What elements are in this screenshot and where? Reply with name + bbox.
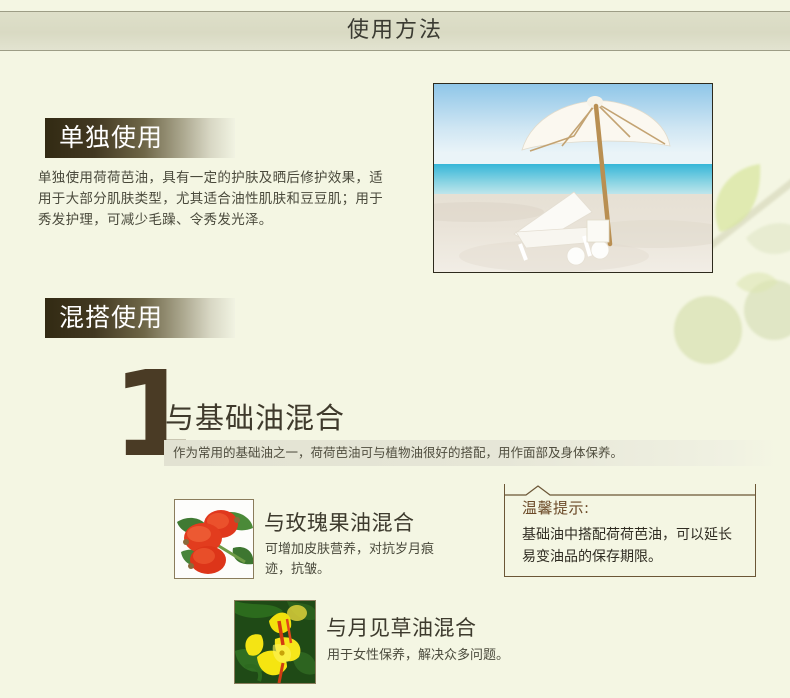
section-heading-mix-label: 混搭使用	[45, 298, 235, 338]
tip-body: 基础油中搭配荷荷芭油，可以延长易变油品的保存期限。	[522, 524, 740, 568]
page-title: 使用方法	[0, 12, 790, 50]
section-heading-alone-label: 单独使用	[45, 118, 235, 158]
mix-subtitle-bar: 作为常用的基础油之一，荷荷芭油可与植物油很好的搭配，用作面部及身体保养。	[164, 440, 778, 466]
rosehip-title: 与玫瑰果油混合	[264, 507, 415, 537]
section-heading-alone: 单独使用	[45, 118, 235, 158]
primrose-description: 用于女性保养，解决众多问题。	[327, 646, 587, 666]
mix-subtitle: 作为常用的基础油之一，荷荷芭油可与植物油很好的搭配，用作面部及身体保养。	[164, 440, 778, 466]
tip-box: 温馨提示: 基础油中搭配荷荷芭油，可以延长易变油品的保存期限。	[504, 484, 756, 577]
beach-photo	[434, 84, 712, 272]
tip-title: 温馨提示:	[522, 497, 590, 518]
alone-description: 单独使用荷荷芭油，具有一定的护肤及晒后修护效果，适用于大部分肌肤类型，尤其适合油…	[38, 168, 386, 231]
primrose-title: 与月见草油混合	[326, 612, 477, 642]
beach-photo-frame	[433, 83, 713, 273]
page-root: 使用方法 单独使用 单独使用荷荷芭油，具有一定的护肤及晒后修护效果，适用于大部分…	[0, 0, 790, 698]
rosehip-description: 可增加皮肤营养，对抗岁月痕迹，抗皱。	[265, 540, 440, 580]
mix-title: 与基础油混合	[165, 395, 345, 437]
rosehip-thumbnail	[174, 499, 254, 579]
page-header-band: 使用方法	[0, 11, 790, 51]
section-heading-mix: 混搭使用	[45, 298, 235, 338]
primrose-thumbnail	[234, 600, 316, 684]
